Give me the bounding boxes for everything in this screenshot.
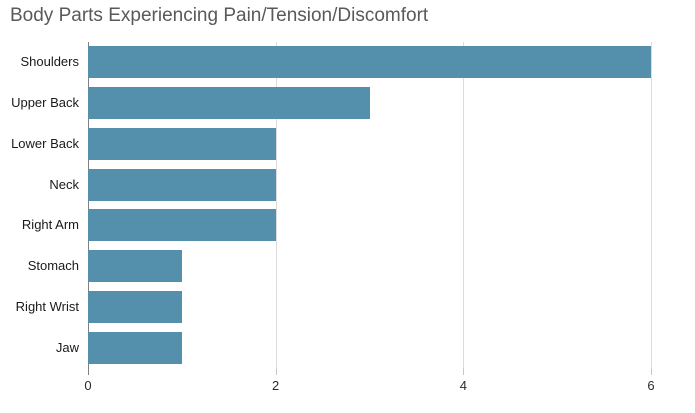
x-tick-mark-6 [651, 368, 652, 375]
chart-title: Body Parts Experiencing Pain/Tension/Dis… [10, 3, 428, 29]
bar [88, 250, 182, 282]
x-tick-mark-2 [276, 368, 277, 375]
y-tick-label: Right Wrist [0, 299, 79, 315]
bar [88, 128, 276, 160]
x-tick-label-2: 2 [261, 378, 291, 393]
x-tick-mark-4 [463, 368, 464, 375]
bar [88, 46, 651, 78]
gridline-6 [651, 42, 652, 368]
plot-area [88, 42, 651, 368]
y-tick-label: Lower Back [0, 136, 79, 152]
x-tick-label-6: 6 [636, 378, 666, 393]
y-tick-label: Right Arm [0, 217, 79, 233]
bar [88, 291, 182, 323]
gridline-4 [463, 42, 464, 368]
bar-chart: Body Parts Experiencing Pain/Tension/Dis… [0, 0, 695, 413]
y-tick-label: Stomach [0, 258, 79, 274]
y-tick-label: Shoulders [0, 54, 79, 70]
y-tick-label: Jaw [0, 340, 79, 356]
bar [88, 87, 370, 119]
y-tick-label: Upper Back [0, 95, 79, 111]
x-tick-label-4: 4 [448, 378, 478, 393]
bar [88, 169, 276, 201]
bar [88, 209, 276, 241]
x-tick-label-0: 0 [73, 378, 103, 393]
bar [88, 332, 182, 364]
y-tick-label: Neck [0, 177, 79, 193]
x-tick-mark-0 [88, 368, 89, 375]
